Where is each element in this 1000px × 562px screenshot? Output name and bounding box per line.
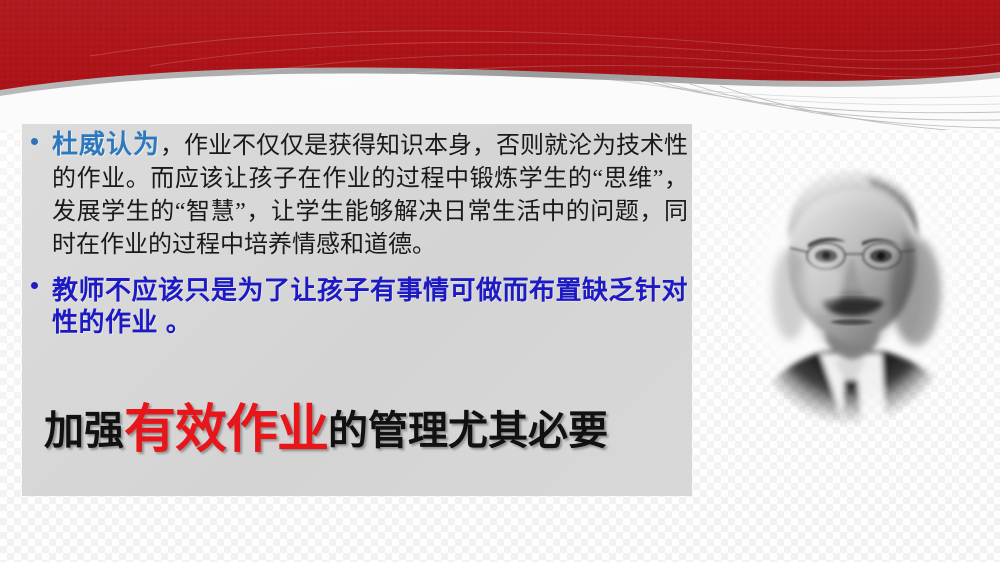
- header-banner: [0, 0, 1000, 130]
- bullet-list: 杜威认为，作业不仅仅是获得知识本身，否则就沦为技术性的作业。而应该让孩子在作业的…: [22, 128, 694, 338]
- headline-suffix: 的管理尤其必要: [328, 409, 608, 453]
- headline-emphasis: 有效作业: [124, 401, 328, 459]
- headline: 加强有效作业的管理尤其必要: [44, 404, 674, 457]
- portrait-photo-icon: [716, 132, 986, 450]
- bullet-dot-icon: [31, 138, 38, 145]
- paragraph-lead: 杜威认为: [52, 129, 160, 159]
- paragraph-text: 杜威认为，作业不仅仅是获得知识本身，否则就沦为技术性的作业。而应该让孩子在作业的…: [52, 128, 694, 262]
- portrait-figure: [716, 132, 986, 450]
- headline-prefix: 加强: [44, 409, 124, 453]
- paragraph-text: 教师不应该只是为了让孩子有事情可做而布置缺乏针对性的作业 。: [52, 274, 694, 338]
- slide-canvas: 杜威认为，作业不仅仅是获得知识本身，否则就沦为技术性的作业。而应该让孩子在作业的…: [0, 0, 1000, 562]
- bullet-dot-icon: [31, 282, 38, 289]
- list-item: 杜威认为，作业不仅仅是获得知识本身，否则就沦为技术性的作业。而应该让孩子在作业的…: [22, 128, 694, 262]
- list-item: 教师不应该只是为了让孩子有事情可做而布置缺乏针对性的作业 。: [22, 274, 694, 338]
